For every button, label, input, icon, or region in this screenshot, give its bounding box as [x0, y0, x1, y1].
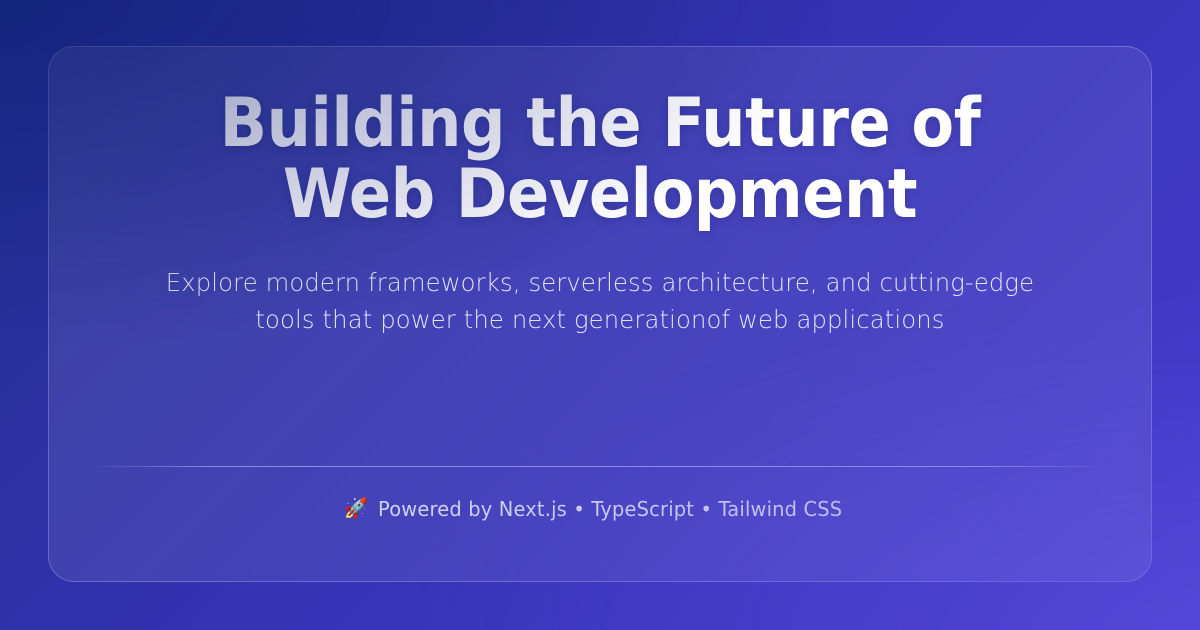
divider [98, 466, 1102, 467]
rocket-icon: 🚀 [344, 499, 369, 519]
footer-tech-stack-label: Powered by Next.js • TypeScript • Tailwi… [378, 499, 842, 519]
content-card: Building the Future of Web Development E… [48, 46, 1152, 582]
og-image-canvas: Building the Future of Web Development E… [0, 0, 1200, 630]
page-title: Building the Future of Web Development [173, 89, 1028, 230]
footer: 🚀 Powered by Next.js • TypeScript • Tail… [49, 499, 1151, 519]
subheadline-block: Explore modern frameworks, serverless ar… [49, 264, 1151, 338]
headline-block: Building the Future of Web Development [49, 89, 1151, 230]
page-subtitle: Explore modern frameworks, serverless ar… [139, 264, 1061, 338]
